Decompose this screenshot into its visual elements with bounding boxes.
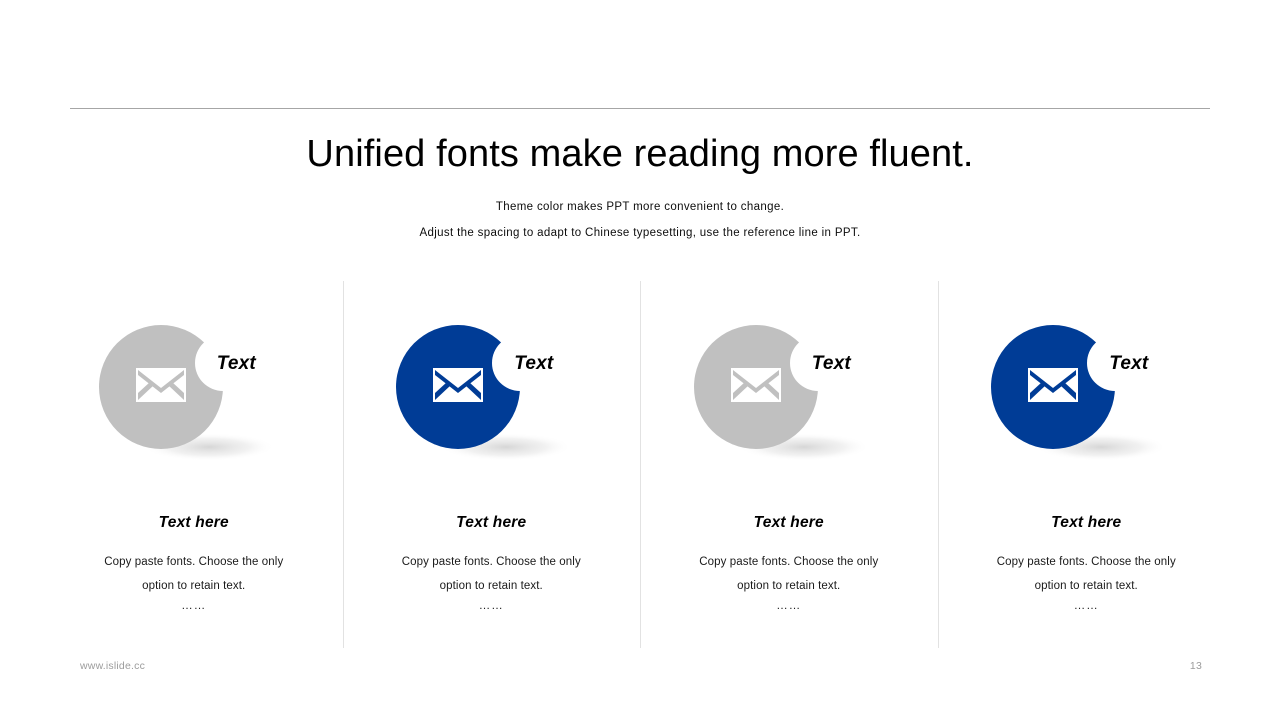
notched-circle-icon	[694, 325, 884, 500]
card-ellipsis: ……	[1074, 600, 1099, 612]
card-body-line-2: option to retain text.	[79, 574, 309, 598]
card-badge-label: Text	[514, 353, 553, 375]
notched-circle-icon	[991, 325, 1181, 500]
envelope-icon	[136, 368, 186, 402]
subtitle-block: Theme color makes PPT more convenient to…	[0, 194, 1280, 246]
notched-circle-icon	[99, 325, 289, 500]
card-body-line-2: option to retain text.	[674, 574, 904, 598]
card-graphic: Text	[99, 325, 289, 500]
envelope-icon	[1028, 368, 1078, 402]
page-title: Unified fonts make reading more fluent.	[0, 130, 1280, 178]
card-badge-label: Text	[1109, 353, 1148, 375]
notched-circle-icon	[396, 325, 586, 500]
card-item[interactable]: Text Text here Copy paste fonts. Choose …	[640, 281, 938, 648]
card-graphic: Text	[694, 325, 884, 500]
card-item[interactable]: Text Text here Copy paste fonts. Choose …	[343, 281, 641, 648]
card-ellipsis: ……	[776, 600, 801, 612]
page-number: 13	[1190, 660, 1202, 672]
card-badge-label: Text	[812, 353, 851, 375]
card-grid: Text Text here Copy paste fonts. Choose …	[45, 281, 1235, 648]
card-graphic: Text	[991, 325, 1181, 500]
footer-url[interactable]: www.islide.cc	[80, 660, 145, 672]
card-body-line-2: option to retain text.	[376, 574, 606, 598]
subtitle-line-2: Adjust the spacing to adapt to Chinese t…	[0, 220, 1280, 246]
card-body: Copy paste fonts. Choose the only option…	[971, 550, 1201, 598]
card-graphic: Text	[396, 325, 586, 500]
card-item[interactable]: Text Text here Copy paste fonts. Choose …	[45, 281, 343, 648]
header-divider	[70, 108, 1210, 109]
card-title: Text here	[456, 514, 526, 532]
card-body: Copy paste fonts. Choose the only option…	[674, 550, 904, 598]
card-ellipsis: ……	[479, 600, 504, 612]
card-body-line-1: Copy paste fonts. Choose the only	[674, 550, 904, 574]
envelope-icon	[731, 368, 781, 402]
card-title: Text here	[1051, 514, 1121, 532]
card-badge-label: Text	[217, 353, 256, 375]
card-title: Text here	[754, 514, 824, 532]
card-ellipsis: ……	[181, 600, 206, 612]
card-body-line-1: Copy paste fonts. Choose the only	[79, 550, 309, 574]
card-item[interactable]: Text Text here Copy paste fonts. Choose …	[938, 281, 1236, 648]
envelope-icon	[433, 368, 483, 402]
card-body-line-2: option to retain text.	[971, 574, 1201, 598]
card-body-line-1: Copy paste fonts. Choose the only	[971, 550, 1201, 574]
card-body-line-1: Copy paste fonts. Choose the only	[376, 550, 606, 574]
subtitle-line-1: Theme color makes PPT more convenient to…	[0, 194, 1280, 220]
card-body: Copy paste fonts. Choose the only option…	[376, 550, 606, 598]
card-title: Text here	[159, 514, 229, 532]
card-body: Copy paste fonts. Choose the only option…	[79, 550, 309, 598]
